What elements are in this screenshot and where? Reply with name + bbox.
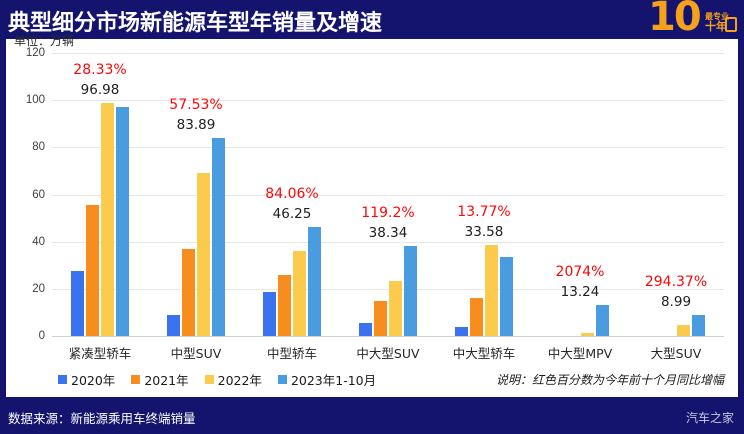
bar-group-4: 中大型轿车33.5813.77% bbox=[436, 53, 532, 336]
bar-2-2[interactable] bbox=[293, 251, 306, 336]
value-label-1: 83.89 bbox=[177, 117, 216, 133]
growth-label-6: 294.37% bbox=[645, 274, 707, 290]
gridline-0 bbox=[52, 336, 724, 337]
bar-0-3[interactable] bbox=[116, 107, 129, 336]
bar-1-0[interactable] bbox=[167, 315, 180, 336]
y-axis-tick-80: 80 bbox=[32, 141, 45, 153]
bar-6-2[interactable] bbox=[677, 325, 690, 336]
bar-6-3[interactable] bbox=[692, 315, 705, 336]
bar-1-1[interactable] bbox=[182, 249, 195, 336]
bar-group-0: 紧凑型轿车96.9828.33% bbox=[52, 53, 148, 336]
bar-4-3[interactable] bbox=[500, 257, 513, 336]
legend-swatch-2 bbox=[205, 375, 214, 384]
bar-group-1: 中型SUV83.8957.53% bbox=[148, 53, 244, 336]
x-axis-label-0: 紧凑型轿车 bbox=[69, 343, 132, 362]
growth-label-2: 84.06% bbox=[265, 186, 318, 202]
x-axis-label-4: 中大型轿车 bbox=[453, 343, 516, 362]
legend-swatch-0 bbox=[58, 375, 67, 384]
y-axis-tick-120: 120 bbox=[26, 47, 45, 59]
bar-group-6: 大型SUV8.99294.37% bbox=[628, 53, 724, 336]
y-axis-tick-60: 60 bbox=[32, 189, 45, 201]
legend-swatch-1 bbox=[131, 375, 140, 384]
growth-label-3: 119.2% bbox=[361, 205, 414, 221]
y-axis-tick-40: 40 bbox=[32, 236, 45, 248]
bar-3-1[interactable] bbox=[374, 301, 387, 336]
value-label-4: 33.58 bbox=[465, 224, 504, 240]
value-label-3: 38.34 bbox=[369, 225, 408, 241]
bar-2-0[interactable] bbox=[263, 292, 276, 336]
bar-group-2: 中型轿车46.2584.06% bbox=[244, 53, 340, 336]
chart-header: 典型细分市场新能源车型年销量及增速 10 最专业 十年 bbox=[0, 0, 744, 39]
growth-label-1: 57.53% bbox=[169, 97, 222, 113]
x-axis-label-6: 大型SUV bbox=[651, 343, 702, 362]
bar-4-1[interactable] bbox=[470, 298, 483, 336]
y-axis-tick-0: 0 bbox=[39, 330, 45, 342]
x-axis-label-5: 中大型MPV bbox=[548, 343, 612, 362]
y-axis-tick-20: 20 bbox=[32, 283, 45, 295]
data-source-label: 数据来源：新能源乘用车终端销量 bbox=[8, 408, 196, 427]
x-axis-label-2: 中型轿车 bbox=[267, 343, 317, 362]
bar-5-2[interactable] bbox=[581, 333, 594, 336]
legend-item-0[interactable]: 2020年 bbox=[58, 370, 115, 389]
logo-number: 10 bbox=[648, 0, 700, 38]
bar-3-3[interactable] bbox=[404, 246, 417, 336]
legend-label-3: 2023年1-10月 bbox=[291, 370, 376, 389]
logo-box-shape bbox=[725, 17, 737, 32]
bar-1-2[interactable] bbox=[197, 173, 210, 336]
chart-panel: 单位：万辆 020406080100120紧凑型轿车96.9828.33%中型S… bbox=[6, 39, 738, 397]
growth-label-5: 2074% bbox=[556, 264, 605, 280]
site-watermark: 汽车之家 bbox=[686, 409, 734, 426]
legend-item-2[interactable]: 2022年 bbox=[205, 370, 262, 389]
x-axis-label-3: 中大型SUV bbox=[356, 343, 419, 362]
legend-label-0: 2020年 bbox=[71, 370, 115, 389]
legend-swatch-3 bbox=[278, 375, 287, 384]
value-label-0: 96.98 bbox=[81, 82, 120, 98]
bar-0-2[interactable] bbox=[101, 103, 114, 336]
bar-4-2[interactable] bbox=[485, 245, 498, 336]
brand-logo-10th-anniversary: 10 最专业 十年 bbox=[646, 0, 738, 40]
bar-1-3[interactable] bbox=[212, 138, 225, 336]
bar-0-0[interactable] bbox=[71, 271, 84, 336]
bar-3-2[interactable] bbox=[389, 281, 402, 336]
legend-item-1[interactable]: 2021年 bbox=[131, 370, 188, 389]
chart-footer: 数据来源：新能源乘用车终端销量 汽车之家 bbox=[0, 397, 744, 434]
bar-2-3[interactable] bbox=[308, 227, 321, 336]
bar-group-5: 中大型MPV13.242074% bbox=[532, 53, 628, 336]
legend-item-3[interactable]: 2023年1-10月 bbox=[278, 370, 376, 389]
logo-subtext: 最专业 十年 bbox=[705, 11, 737, 37]
value-label-2: 46.25 bbox=[273, 206, 312, 222]
chart-note: 说明：红色百分数为今年前十个月同比增幅 bbox=[496, 371, 724, 388]
value-label-6: 8.99 bbox=[661, 294, 691, 310]
y-axis-tick-100: 100 bbox=[26, 94, 45, 106]
legend-label-1: 2021年 bbox=[144, 370, 188, 389]
plot-area: 020406080100120紧凑型轿车96.9828.33%中型SUV83.8… bbox=[52, 53, 724, 336]
bar-4-0[interactable] bbox=[455, 327, 468, 336]
bar-5-3[interactable] bbox=[596, 305, 609, 336]
value-label-5: 13.24 bbox=[561, 284, 600, 300]
growth-label-0: 28.33% bbox=[73, 62, 126, 78]
growth-label-4: 13.77% bbox=[457, 204, 510, 220]
bar-group-3: 中大型SUV38.34119.2% bbox=[340, 53, 436, 336]
legend-label-2: 2022年 bbox=[218, 370, 262, 389]
bar-3-0[interactable] bbox=[359, 323, 372, 336]
chart-legend: 2020年2021年2022年2023年1-10月 bbox=[58, 370, 376, 389]
bar-2-1[interactable] bbox=[278, 275, 291, 336]
x-axis-label-1: 中型SUV bbox=[171, 343, 222, 362]
logo-subtext-line2: 十年 bbox=[705, 22, 727, 31]
bar-0-1[interactable] bbox=[86, 205, 99, 336]
